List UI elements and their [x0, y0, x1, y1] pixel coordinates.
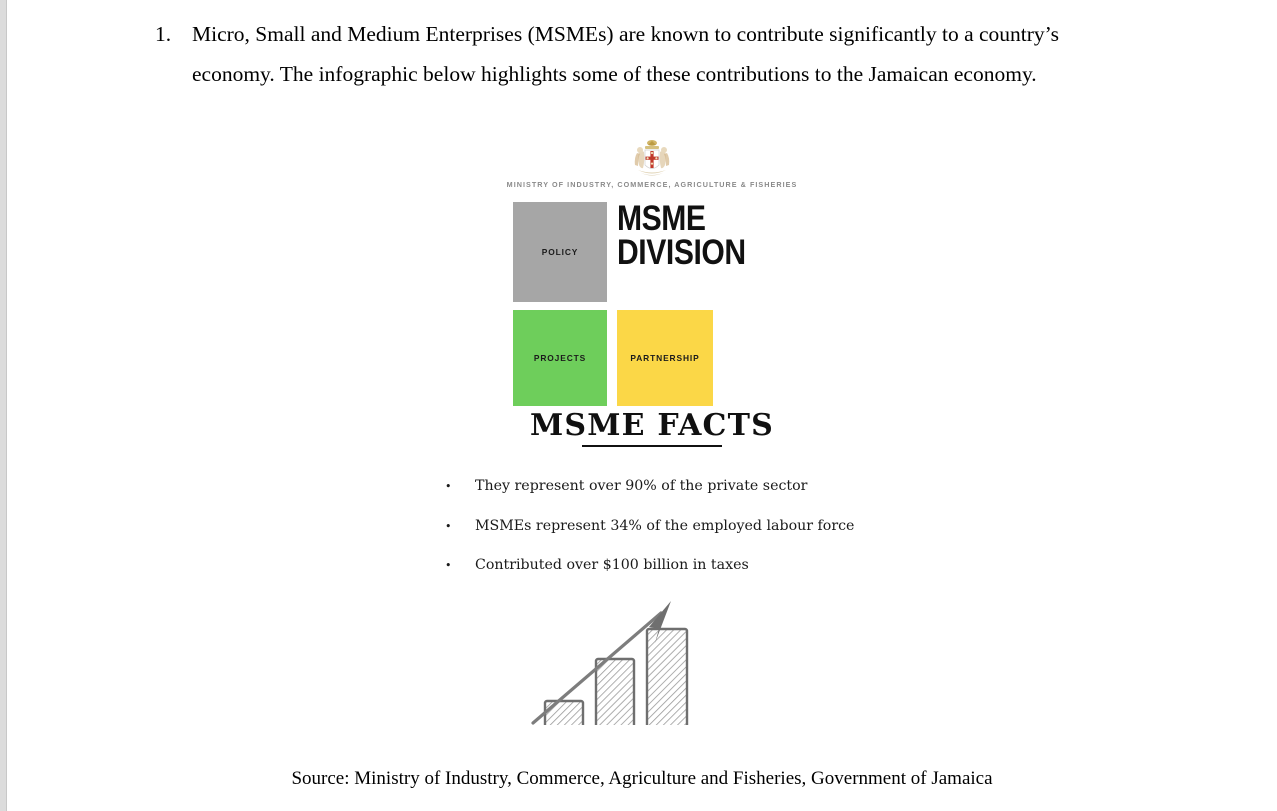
logo-block-projects: PROJECTS [513, 310, 607, 406]
facts-heading: MSME FACTS [427, 410, 877, 447]
facts-title-rule [582, 445, 722, 447]
document-viewer-edge [0, 0, 7, 811]
document-page: 1. Micro, Small and Medium Enterprises (… [7, 0, 1277, 811]
logo-block-policy: POLICY [513, 202, 607, 302]
facts-list: • They represent over 90% of the private… [445, 478, 875, 597]
jamaica-coat-of-arms-icon [630, 138, 674, 180]
msme-division-title: MSME DIVISION [617, 202, 780, 271]
logo-block-policy-label: POLICY [542, 247, 579, 257]
bullet-icon: • [445, 521, 475, 532]
coat-of-arms [427, 138, 877, 185]
bullet-icon: • [445, 560, 475, 571]
ministry-name-line: MINISTRY OF INDUSTRY, COMMERCE, AGRICULT… [427, 180, 877, 189]
question-row: 1. Micro, Small and Medium Enterprises (… [155, 14, 1145, 94]
list-item-label: Contributed over $100 billion in taxes [475, 557, 875, 573]
list-item: • They represent over 90% of the private… [445, 478, 875, 518]
ascending-bar-chart-icon [519, 593, 719, 725]
facts-title: MSME FACTS [427, 410, 877, 442]
list-item: • MSMEs represent 34% of the employed la… [445, 518, 875, 558]
division-title-line-2: DIVISION [617, 236, 780, 270]
list-item-label: They represent over 90% of the private s… [475, 478, 875, 494]
msme-infographic: MINISTRY OF INDUSTRY, COMMERCE, AGRICULT… [427, 130, 877, 725]
division-title-line-1: MSME [617, 202, 780, 236]
growth-chart-illustration [519, 593, 719, 725]
logo-block-partnership: PARTNERSHIP [617, 310, 713, 406]
source-caption: Source: Ministry of Industry, Commerce, … [7, 768, 1277, 790]
question-paragraph: Micro, Small and Medium Enterprises (MSM… [192, 14, 1145, 94]
list-number-marker: 1. [155, 14, 192, 54]
question-block: 1. Micro, Small and Medium Enterprises (… [155, 14, 1145, 94]
list-item: • Contributed over $100 billion in taxes [445, 557, 875, 597]
msme-division-logo: POLICY PROJECTS PARTNERSHIP MSME DIVISIO… [513, 202, 803, 402]
logo-block-partnership-label: PARTNERSHIP [630, 353, 699, 363]
list-item-label: MSMEs represent 34% of the employed labo… [475, 518, 875, 534]
logo-block-projects-label: PROJECTS [534, 353, 586, 363]
bullet-icon: • [445, 481, 475, 492]
